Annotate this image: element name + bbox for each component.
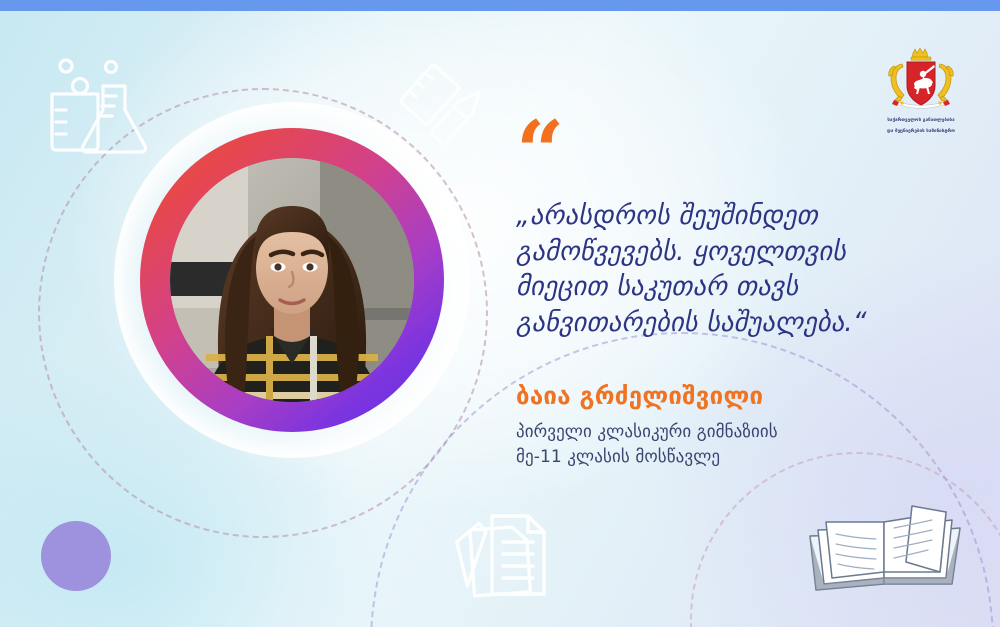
- author-role-line-1: პირველი კლასიკური გიმნაზიის: [516, 420, 946, 445]
- purple-circle-decoration: [41, 521, 111, 591]
- top-accent-bar: [0, 0, 1000, 11]
- ministry-name-line-2: და მეცნიერების სამინისტრო: [866, 129, 976, 136]
- author-role-line-2: მე-11 კლასის მოსწავლე: [516, 445, 946, 470]
- avatar: [140, 128, 444, 432]
- open-book-icon: [800, 498, 970, 617]
- documents-stack-icon: [450, 498, 575, 612]
- quote-text: „არასდროს შეუშინდეთ გამოწვევებს. ყოველთვ…: [516, 198, 926, 340]
- ministry-emblem: საქართველოს განათლებისა და მეცნიერების ს…: [866, 44, 976, 135]
- dashed-arc-small-right: [690, 452, 1000, 627]
- quote-poster: “ „არასდროს შეუშინდეთ გამოწვევებს. ყოველ…: [0, 0, 1000, 627]
- georgia-coat-of-arms-icon: [878, 44, 964, 114]
- ministry-name-line-1: საქართველოს განათლებისა: [866, 118, 976, 125]
- author-name: ბაია გრძელიშვილი: [516, 382, 946, 410]
- avatar-photo: [170, 158, 414, 402]
- quote-content: “ „არასდროს შეუშინდეთ გამოწვევებს. ყოველ…: [516, 126, 946, 469]
